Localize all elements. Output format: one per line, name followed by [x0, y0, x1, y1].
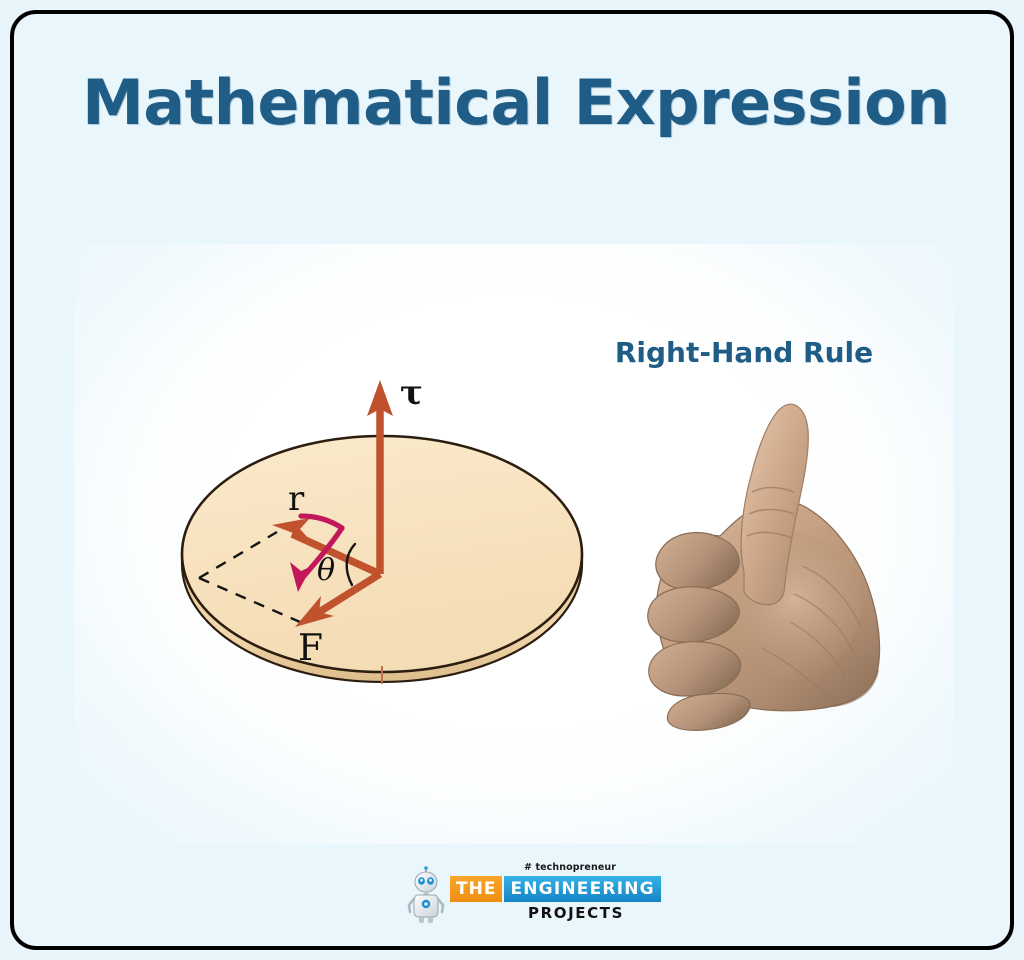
logo-tagline: # technopreneur [524, 862, 616, 873]
torque-diagram: τ r F θ [164, 364, 604, 714]
label-tau: τ [400, 373, 423, 413]
site-logo[interactable]: # technopreneur THE ENGINEERING PROJECTS [406, 862, 618, 932]
logo-word-projects: PROJECTS [528, 904, 624, 922]
logo-word-engineering: ENGINEERING [504, 876, 660, 902]
logo-wordmark: THE ENGINEERING [450, 876, 661, 902]
finger-little [667, 694, 750, 731]
logo-word-the: THE [450, 876, 502, 902]
right-hand-thumbs-up [602, 396, 902, 736]
page-title: Mathematical Expression [14, 66, 1014, 139]
right-hand-rule-caption: Right-Hand Rule [599, 336, 889, 369]
page-root: Mathematical Expression Right-Hand Rule [0, 0, 1024, 960]
label-r: r [288, 479, 305, 519]
content-frame: Mathematical Expression Right-Hand Rule [10, 10, 1014, 950]
label-F: F [298, 628, 323, 669]
robot-mascot-icon [406, 866, 446, 924]
label-theta: θ [317, 553, 335, 588]
